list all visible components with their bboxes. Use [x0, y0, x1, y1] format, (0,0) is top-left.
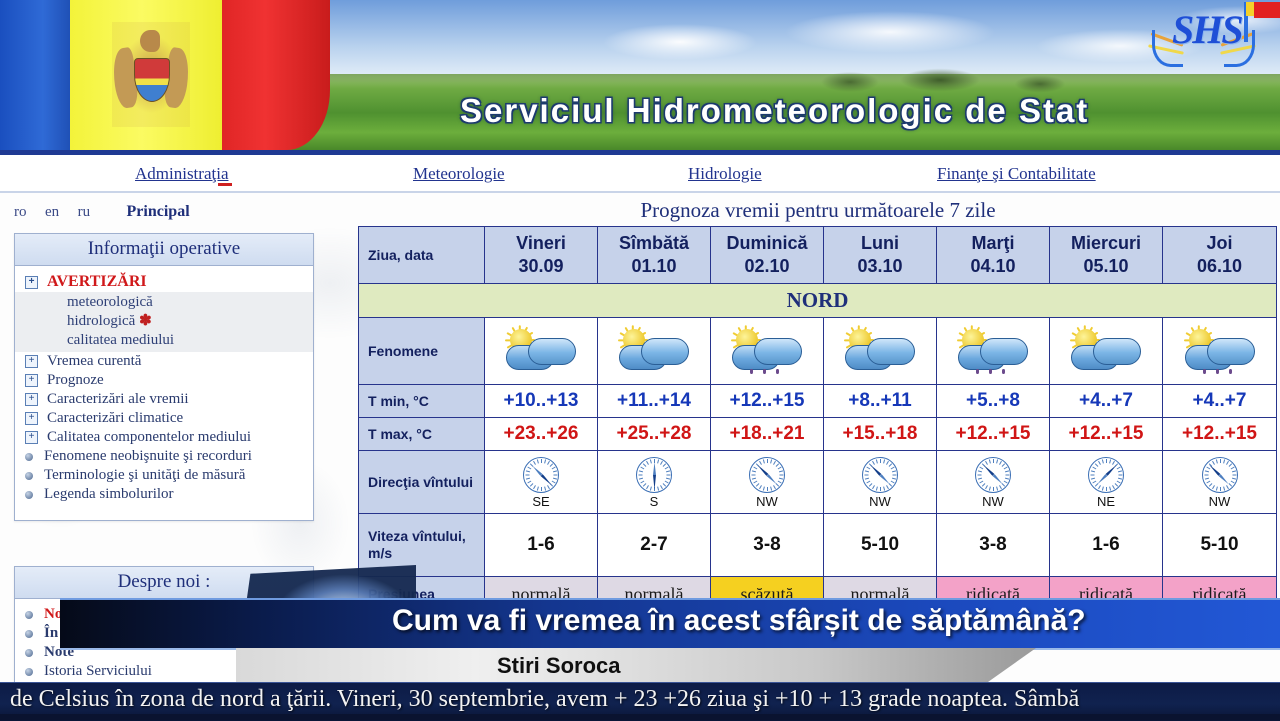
- compass-icon: [749, 457, 785, 493]
- bullet-icon: [25, 453, 33, 461]
- table-row-pressure: Presiunea normală normală scăzută normal…: [359, 577, 1277, 612]
- table-row-tmin: T min, °C +10..+13 +11..+14 +12..+15 +8.…: [359, 385, 1277, 418]
- wind-dir-cell: S: [598, 451, 711, 514]
- sidebar-item-calitatea-componentelor[interactable]: + Calitatea componentelor mediului: [15, 428, 313, 447]
- wind-speed-cell: 5-10: [824, 514, 937, 577]
- sidebar-item-label: În atenţia populaţiei: [44, 625, 174, 642]
- region-label: NORD: [359, 284, 1277, 318]
- main-navigation: Administraţia Meteorologie Hidrologie Fi…: [0, 155, 1280, 193]
- nav-item-finante[interactable]: Finanţe şi Contabilitate: [937, 164, 1096, 184]
- sidebar-subitem-label: hidrologică: [67, 313, 135, 329]
- nav-item-administratia[interactable]: Administraţia: [135, 164, 228, 184]
- day-date: 06.10: [1163, 255, 1276, 278]
- pressure-cell: normală: [598, 577, 711, 612]
- row-label-wind-dir: Direcţia vîntului: [359, 451, 485, 514]
- pressure-cell: normală: [485, 577, 598, 612]
- about-us-title: Despre noi :: [15, 567, 313, 599]
- sidebar-item-label: Caracterizări climatice: [47, 410, 183, 427]
- nav-item-hidrologie[interactable]: Hidrologie: [688, 164, 762, 184]
- bullet-icon: [25, 491, 33, 499]
- table-row-winddir: Direcţia vîntului SE S NW NW NW: [359, 451, 1277, 514]
- day-header-cell: Marţi 04.10: [937, 227, 1050, 284]
- lang-ru[interactable]: ru: [78, 204, 91, 220]
- sidebar-item-label: Calitatea componentelor mediului: [47, 429, 251, 446]
- table-row-tmax: T max, °C +23..+26 +25..+28 +18..+21 +15…: [359, 418, 1277, 451]
- wind-dir-label: NW: [1163, 494, 1276, 509]
- coat-of-arms-icon: [112, 22, 190, 127]
- sidebar-item-label: Istoria Serviciului: [44, 663, 152, 680]
- day-date: 30.09: [485, 255, 597, 278]
- nav-item-meteorologie[interactable]: Meteorologie: [413, 164, 505, 184]
- sidebar-item-legenda[interactable]: Legenda simbolurilor: [15, 485, 313, 504]
- bullet-icon: [25, 649, 33, 657]
- row-label-pressure: Presiunea: [359, 577, 485, 612]
- sidebar-item-caracterizari-climatice[interactable]: + Caracterizări climatice: [15, 409, 313, 428]
- plus-box-icon[interactable]: +: [25, 355, 38, 368]
- lang-en[interactable]: en: [45, 204, 59, 220]
- wind-speed-cell: 3-8: [937, 514, 1050, 577]
- wind-speed-cell: 1-6: [1050, 514, 1163, 577]
- phenomena-cell: [824, 318, 937, 385]
- pressure-cell: normală: [824, 577, 937, 612]
- link-principal[interactable]: Principal: [127, 203, 190, 220]
- day-name: Sîmbătă: [598, 232, 710, 255]
- forecast-title: Prognoza vremii pentru următoarele 7 zil…: [358, 198, 1278, 223]
- wind-dir-cell: NE: [1050, 451, 1163, 514]
- pressure-cell: ridicată: [1163, 577, 1277, 612]
- row-label-day: Ziua, data: [359, 227, 485, 284]
- sidebar-item-noutati[interactable]: Noutăţi: [15, 605, 313, 624]
- treeline-decoration: [820, 66, 1120, 94]
- bullet-icon: [25, 630, 33, 638]
- sidebar-subitem-calitatea-mediului[interactable]: calitatea mediului: [15, 331, 313, 350]
- about-us-menu: Noutăţi În atenţia populaţiei Note Istor…: [15, 599, 313, 681]
- avertizari-subgroup: meteorologică hidrologică ✽ calitatea me…: [15, 292, 313, 352]
- sidebar-item-terminologie[interactable]: Terminologie şi unităţi de măsură: [15, 466, 313, 485]
- sidebar-item-label: Prognoze: [47, 372, 104, 389]
- compass-icon: [1202, 457, 1238, 493]
- logo-flag-icon: [1236, 0, 1280, 40]
- row-label-tmin: T min, °C: [359, 385, 485, 418]
- phenomena-cell: [937, 318, 1050, 385]
- day-name: Vineri: [485, 232, 597, 255]
- table-row-region: NORD: [359, 284, 1277, 318]
- day-date: 03.10: [824, 255, 936, 278]
- tmax-cell: +15..+18: [824, 418, 937, 451]
- plus-box-icon[interactable]: +: [25, 412, 38, 425]
- wind-dir-label: NW: [711, 494, 823, 509]
- day-date: 02.10: [711, 255, 823, 278]
- sidebar-item-label: Fenomene neobişnuite şi recorduri: [44, 448, 252, 465]
- sun-cloud-rain-icon: [1183, 328, 1257, 374]
- tmax-cell: +12..+15: [1050, 418, 1163, 451]
- pressure-cell: ridicată: [1050, 577, 1163, 612]
- wind-speed-cell: 2-7: [598, 514, 711, 577]
- sidebar-item-caracterizari-vremii[interactable]: + Caracterizări ale vremii: [15, 390, 313, 409]
- phenomena-cell: [598, 318, 711, 385]
- phenomena-cell: [485, 318, 598, 385]
- tmax-cell: +18..+21: [711, 418, 824, 451]
- day-date: 04.10: [937, 255, 1049, 278]
- operative-info-panel: Informaţii operative + AVERTIZĂRI meteor…: [14, 233, 314, 521]
- sidebar-item-vremea-curenta[interactable]: + Vremea curentă: [15, 352, 313, 371]
- sun-cloud-rain-icon: [956, 328, 1030, 374]
- nav-cursor-marker: [218, 183, 232, 186]
- wind-dir-label: NW: [937, 494, 1049, 509]
- day-name: Miercuri: [1050, 232, 1162, 255]
- tmin-cell: +12..+15: [711, 385, 824, 418]
- forecast-table: Ziua, data Vineri 30.09 Sîmbătă 01.10 Du…: [358, 226, 1277, 612]
- wind-dir-cell: NW: [824, 451, 937, 514]
- day-header-cell: Miercuri 05.10: [1050, 227, 1163, 284]
- sidebar-item-fenomene-recorduri[interactable]: Fenomene neobişnuite şi recorduri: [15, 447, 313, 466]
- page-body: ro en ru Principal Informaţii operative …: [0, 193, 1280, 720]
- tmax-cell: +12..+15: [937, 418, 1050, 451]
- day-date: 05.10: [1050, 255, 1162, 278]
- tmin-cell: +4..+7: [1163, 385, 1277, 418]
- operative-info-title: Informaţii operative: [15, 234, 313, 266]
- phenomena-cell: [711, 318, 824, 385]
- sidebar-item-label: Note: [44, 644, 74, 661]
- alert-marker-icon: ✽: [139, 313, 152, 329]
- wind-dir-cell: NW: [1163, 451, 1277, 514]
- pressure-cell: ridicată: [937, 577, 1050, 612]
- wind-dir-cell: NW: [937, 451, 1050, 514]
- compass-icon: [523, 457, 559, 493]
- row-label-wind-speed: Viteza vîntului, m/s: [359, 514, 485, 577]
- row-label-tmax: T max, °C: [359, 418, 485, 451]
- compass-icon: [636, 457, 672, 493]
- sidebar-item-label: Noutăţi: [44, 606, 92, 623]
- table-row-phenomena: Fenomene: [359, 318, 1277, 385]
- sun-cloud-icon: [1069, 328, 1143, 374]
- day-name: Luni: [824, 232, 936, 255]
- bullet-icon: [25, 668, 33, 676]
- compass-icon: [1088, 457, 1124, 493]
- sidebar-item-avertizari[interactable]: + AVERTIZĂRI: [15, 272, 313, 292]
- sidebar-item-note[interactable]: Note: [15, 643, 313, 662]
- wind-speed-cell: 3-8: [711, 514, 824, 577]
- row-label-phenomena: Fenomene: [359, 318, 485, 385]
- day-header-cell: Joi 06.10: [1163, 227, 1277, 284]
- sidebar-subitem-meteorologica[interactable]: meteorologică: [15, 293, 313, 312]
- wind-dir-cell: NW: [711, 451, 824, 514]
- compass-icon: [975, 457, 1011, 493]
- sidebar-item-label: Legenda simbolurilor: [44, 486, 174, 503]
- day-name: Marţi: [937, 232, 1049, 255]
- sun-cloud-rain-icon: [730, 328, 804, 374]
- bullet-icon: [25, 611, 33, 619]
- phenomena-cell: [1050, 318, 1163, 385]
- tmax-cell: +23..+26: [485, 418, 598, 451]
- sidebar-item-prognoze[interactable]: + Prognoze: [15, 371, 313, 390]
- bullet-icon: [25, 472, 33, 480]
- plus-box-icon[interactable]: +: [25, 431, 38, 444]
- phenomena-cell: [1163, 318, 1277, 385]
- day-header-cell: Duminică 02.10: [711, 227, 824, 284]
- tmax-cell: +25..+28: [598, 418, 711, 451]
- day-header-cell: Vineri 30.09: [485, 227, 598, 284]
- wind-dir-label: S: [598, 494, 710, 509]
- day-header-cell: Luni 03.10: [824, 227, 937, 284]
- sidebar-subitem-hidrologica[interactable]: hidrologică ✽: [15, 312, 313, 331]
- tmin-cell: +4..+7: [1050, 385, 1163, 418]
- day-date: 01.10: [598, 255, 710, 278]
- plus-box-icon[interactable]: +: [25, 374, 38, 387]
- sidebar-item-label: AVERTIZĂRI: [47, 273, 147, 291]
- wind-speed-cell: 1-6: [485, 514, 598, 577]
- about-us-panel: Despre noi : Noutăţi În atenţia populaţi…: [14, 566, 314, 718]
- pressure-cell: scăzută: [711, 577, 824, 612]
- sun-cloud-icon: [617, 328, 691, 374]
- tmax-cell: +12..+15: [1163, 418, 1277, 451]
- plus-box-icon[interactable]: +: [25, 393, 38, 406]
- language-bar: ro en ru Principal: [14, 203, 204, 225]
- wind-dir-label: SE: [485, 494, 597, 509]
- lang-ro[interactable]: ro: [14, 204, 27, 220]
- operative-info-menu: + AVERTIZĂRI meteorologică hidrologică ✽…: [15, 266, 313, 504]
- moldova-flag-image: [0, 0, 330, 150]
- compass-icon: [862, 457, 898, 493]
- day-header-cell: Sîmbătă 01.10: [598, 227, 711, 284]
- day-name: Joi: [1163, 232, 1276, 255]
- table-row-windspeed: Viteza vîntului, m/s 1-6 2-7 3-8 5-10 3-…: [359, 514, 1277, 577]
- tmin-cell: +10..+13: [485, 385, 598, 418]
- site-banner: SHS Serviciul Hidrometeorologic de Stat: [0, 0, 1280, 155]
- wind-dir-cell: SE: [485, 451, 598, 514]
- sidebar-item-label: Terminologie şi unităţi de măsură: [44, 467, 245, 484]
- sun-cloud-icon: [843, 328, 917, 374]
- sun-cloud-icon: [504, 328, 578, 374]
- tmin-cell: +8..+11: [824, 385, 937, 418]
- site-title: Serviciul Hidrometeorologic de Stat: [460, 92, 1089, 130]
- wind-dir-label: NE: [1050, 494, 1162, 509]
- sidebar-item-label: Caracterizări ale vremii: [47, 391, 189, 408]
- sidebar-item-label: Vremea curentă: [47, 353, 141, 370]
- wind-speed-cell: 5-10: [1163, 514, 1277, 577]
- sidebar-item-istoria-serviciului[interactable]: Istoria Serviciului: [15, 662, 313, 681]
- sidebar-item-in-atentia-populatiei[interactable]: În atenţia populaţiei: [15, 624, 313, 643]
- shs-logo-text: SHS: [1172, 6, 1232, 53]
- table-row-dayheader: Ziua, data Vineri 30.09 Sîmbătă 01.10 Du…: [359, 227, 1277, 284]
- plus-box-icon[interactable]: +: [25, 276, 38, 289]
- tmin-cell: +5..+8: [937, 385, 1050, 418]
- day-name: Duminică: [711, 232, 823, 255]
- wind-dir-label: NW: [824, 494, 936, 509]
- tmin-cell: +11..+14: [598, 385, 711, 418]
